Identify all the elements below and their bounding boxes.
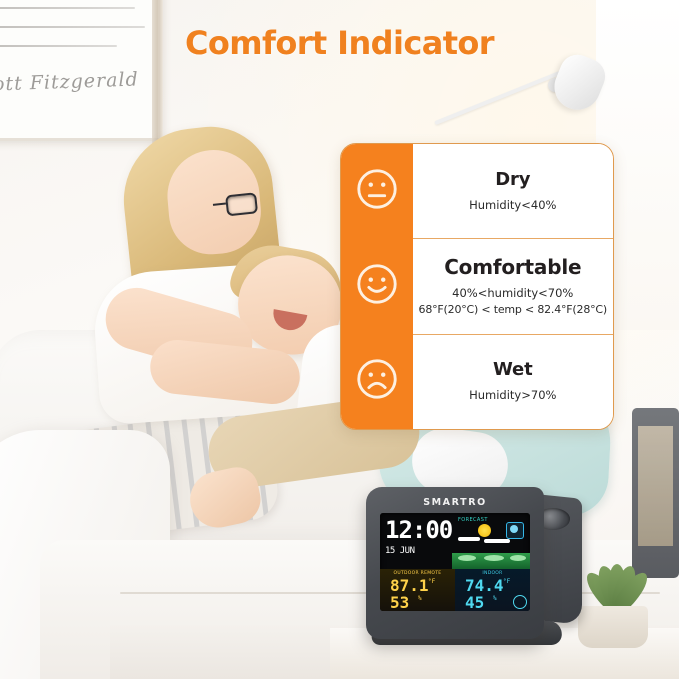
lcd-display: 12:00 15 JUN FORECAST OUTDOOR REMOTE 87.…: [380, 513, 530, 611]
comfort-row-condition-secondary: 68°F(20°C) < temp < 82.4°F(28°C): [419, 302, 607, 318]
page-title: Comfort Indicator: [0, 24, 679, 62]
forecast-label: FORECAST: [458, 517, 488, 523]
indoor-temperature: 74.4: [465, 578, 504, 594]
cloud-icon: [484, 539, 510, 543]
indoor-temp-unit: °F: [503, 578, 510, 585]
comfort-row-title: Wet: [493, 359, 532, 380]
sun-icon: [478, 524, 491, 537]
comfort-face-icon: [513, 595, 527, 609]
comfort-row-condition: Humidity>70%: [469, 387, 556, 404]
landscape-graphic: [452, 553, 530, 569]
indoor-humidity: 45: [465, 595, 484, 611]
plant-pot: [578, 606, 648, 648]
frowning-face-icon: [354, 356, 400, 407]
comfort-rows: Dry Humidity<40% Comfortable 40%<humidit…: [413, 144, 613, 429]
quote-signature: ott Fitzgerald: [0, 68, 139, 95]
outdoor-temp-unit: °F: [428, 578, 435, 585]
outdoor-panel: OUTDOOR REMOTE 87.1 °F 53 %: [380, 569, 455, 611]
outdoor-temperature: 87.1: [390, 578, 429, 594]
clock-date: 15 JUN: [385, 546, 415, 556]
comfort-icon-cell-wet: [341, 334, 413, 429]
comfort-row-comfortable: Comfortable 40%<humidity<70% 68°F(20°C) …: [413, 238, 613, 333]
comfort-icon-column: [341, 144, 413, 429]
frame-edge: [152, 0, 163, 150]
brand-logo: SMARTRO: [366, 497, 544, 508]
comfort-row-title: Comfortable: [444, 255, 581, 279]
comfort-row-dry: Dry Humidity<40%: [413, 144, 613, 238]
comfort-row-title: Dry: [495, 169, 530, 190]
weather-station-device: SMARTRO 12:00 15 JUN FORECAST: [366, 487, 582, 647]
comfort-row-wet: Wet Humidity>70%: [413, 334, 613, 429]
indoor-humidity-unit: %: [493, 595, 497, 602]
quote-line-1: [0, 7, 135, 9]
product-marketing-image: ott Fitzgerald: [0, 0, 679, 679]
lcd-top-section: 12:00 15 JUN FORECAST: [380, 513, 530, 569]
indoor-panel: INDOOR 74.4 °F 45 %: [455, 569, 530, 611]
comfort-row-condition: 40%<humidity<70%: [452, 285, 573, 302]
comfort-icon-cell-comfortable: [341, 239, 413, 334]
neutral-face-icon: [354, 166, 400, 217]
lcd-bottom-section: OUTDOOR REMOTE 87.1 °F 53 % INDOOR 74.4 …: [380, 569, 530, 611]
outdoor-humidity-unit: %: [418, 595, 422, 602]
outdoor-humidity: 53: [390, 595, 409, 611]
clock-time: 12:00: [385, 518, 452, 542]
smiley-face-icon: [354, 261, 400, 312]
comfort-indicator-card: Dry Humidity<40% Comfortable 40%<humidit…: [340, 143, 614, 430]
comfort-icon-cell-dry: [341, 144, 413, 239]
comfort-row-condition: Humidity<40%: [469, 197, 556, 214]
moon-icon: [510, 525, 518, 533]
framed-quote-art: ott Fitzgerald: [0, 0, 162, 141]
cloud-icon: [458, 537, 480, 541]
